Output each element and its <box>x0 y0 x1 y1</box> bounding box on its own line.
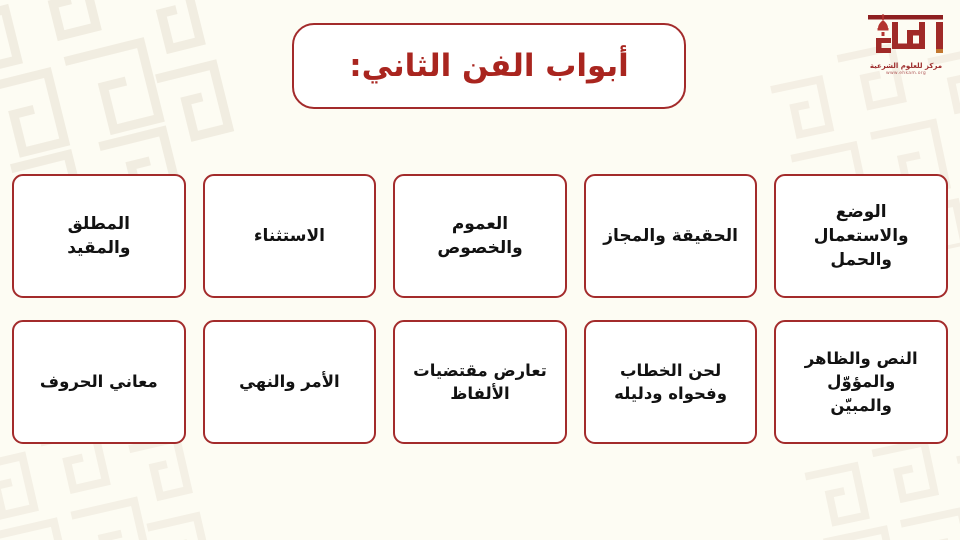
topic-box-2[interactable]: الاستثناء <box>203 174 377 298</box>
topic-label: تعارض مقتضيات الألفاظ <box>413 359 547 406</box>
topic-box-8[interactable]: تعارض مقتضيات الألفاظ <box>393 320 567 444</box>
topic-label: الأمر والنهي <box>239 370 340 393</box>
topic-label: المطلق والمقيد <box>67 212 130 260</box>
topic-box-7[interactable]: الأمر والنهي <box>203 320 377 444</box>
topic-label: النص والظاهر والمؤوّل والمبيّن <box>805 347 918 417</box>
topic-label: لحن الخطاب وفحواه ودليله <box>614 359 727 406</box>
topic-label: الوضع والاستعمال والحمل <box>814 200 909 272</box>
topic-box-9[interactable]: لحن الخطاب وفحواه ودليله <box>584 320 758 444</box>
ihkam-wordmark-icon <box>861 12 951 60</box>
topic-label: معاني الحروف <box>40 370 158 393</box>
topic-box-10[interactable]: النص والظاهر والمؤوّل والمبيّن <box>774 320 948 444</box>
topic-box-3[interactable]: العموم والخصوص <box>393 174 567 298</box>
topic-label: الاستثناء <box>254 224 325 248</box>
topics-grid: المطلق والمقيد الاستثناء العموم والخصوص … <box>12 174 948 444</box>
topic-label: الحقيقة والمجاز <box>603 224 738 248</box>
logo-url: www.ehkam.org <box>886 71 926 76</box>
logo: مركز للعلوم الشرعية www.ehkam.org <box>858 12 954 90</box>
topics-row-1: المطلق والمقيد الاستثناء العموم والخصوص … <box>12 174 948 298</box>
slide-title-box: أبواب الفن الثاني: <box>292 23 686 109</box>
logo-subtitle: مركز للعلوم الشرعية <box>870 62 942 70</box>
slide-canvas: أبواب الفن الثاني: مرك <box>0 0 960 540</box>
page-title: أبواب الفن الثاني: <box>349 48 629 84</box>
topic-box-4[interactable]: الحقيقة والمجاز <box>584 174 758 298</box>
topic-label: العموم والخصوص <box>437 212 522 260</box>
topic-box-6[interactable]: معاني الحروف <box>12 320 186 444</box>
topic-box-1[interactable]: المطلق والمقيد <box>12 174 186 298</box>
topics-row-2: معاني الحروف الأمر والنهي تعارض مقتضيات … <box>12 320 948 444</box>
topic-box-5[interactable]: الوضع والاستعمال والحمل <box>774 174 948 298</box>
